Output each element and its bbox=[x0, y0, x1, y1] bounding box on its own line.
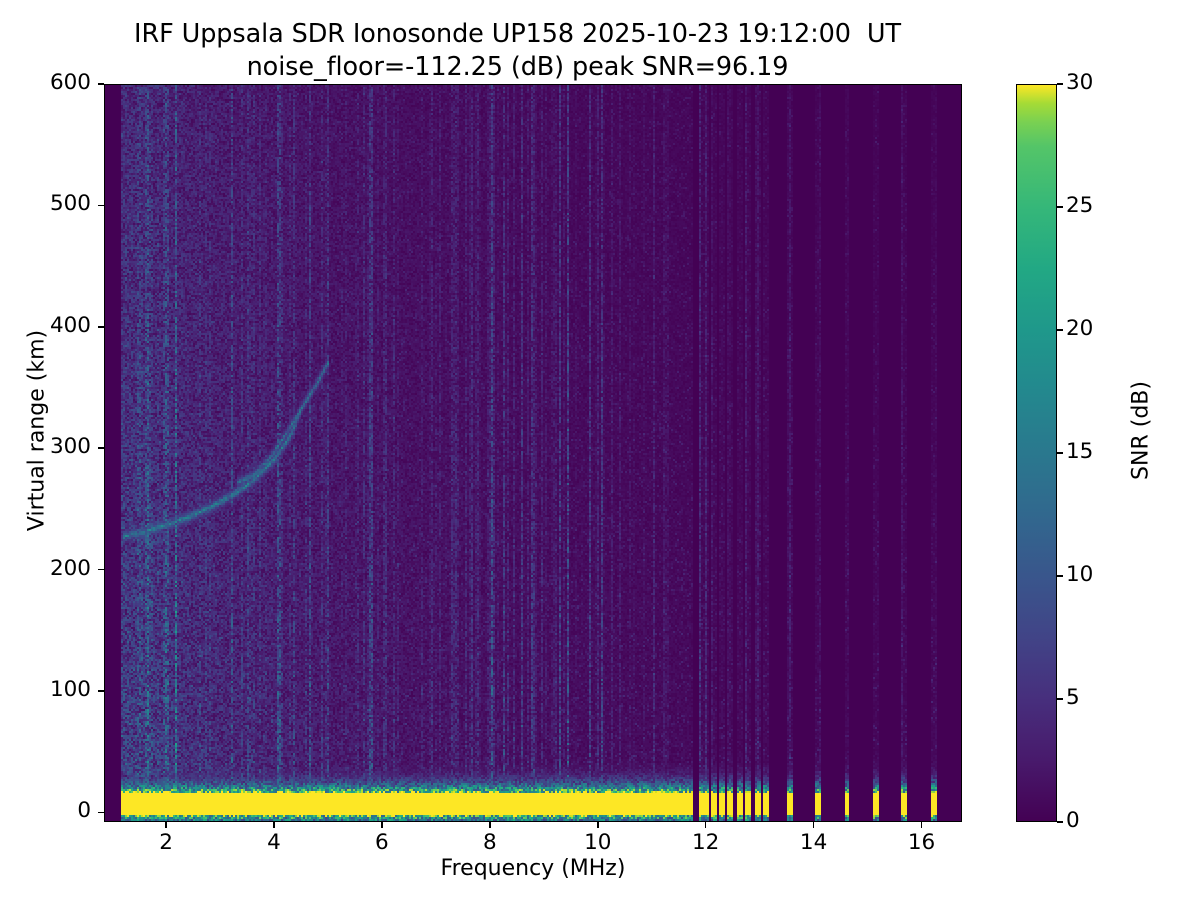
colorbar-tick-mark bbox=[1057, 329, 1063, 331]
colorbar-tick-label: 0 bbox=[1066, 808, 1080, 833]
colorbar-tick-label: 30 bbox=[1066, 70, 1093, 95]
colorbar-tick-label: 25 bbox=[1066, 193, 1093, 218]
colorbar-tick-mark bbox=[1057, 83, 1063, 85]
y-tick-mark bbox=[98, 326, 104, 328]
colorbar-tick-mark bbox=[1057, 698, 1063, 700]
y-tick-mark bbox=[98, 83, 104, 85]
y-tick-label: 400 bbox=[0, 313, 91, 338]
x-axis-label: Frequency (MHz) bbox=[104, 856, 962, 881]
colorbar-tick-mark bbox=[1057, 575, 1063, 577]
x-tick-mark bbox=[813, 822, 815, 828]
y-tick-mark bbox=[98, 205, 104, 207]
x-tick-label: 12 bbox=[692, 830, 719, 855]
y-tick-label: 300 bbox=[0, 434, 91, 459]
colorbar-gradient bbox=[1017, 85, 1056, 821]
colorbar-tick-label: 15 bbox=[1066, 439, 1093, 464]
x-tick-label: 8 bbox=[483, 830, 497, 855]
x-tick-label: 4 bbox=[267, 830, 281, 855]
x-tick-mark bbox=[489, 822, 491, 828]
y-tick-mark bbox=[98, 812, 104, 814]
y-tick-label: 100 bbox=[0, 677, 91, 702]
ionogram-figure: IRF Uppsala SDR Ionosonde UP158 2025-10-… bbox=[0, 0, 1200, 900]
x-tick-label: 6 bbox=[375, 830, 389, 855]
colorbar-tick-mark bbox=[1057, 452, 1063, 454]
y-tick-label: 600 bbox=[0, 70, 91, 95]
title-line-2: noise_floor=-112.25 (dB) peak SNR=96.19 bbox=[0, 51, 1035, 84]
x-tick-label: 2 bbox=[159, 830, 173, 855]
x-tick-mark bbox=[165, 822, 167, 828]
snr-colorbar[interactable] bbox=[1016, 84, 1057, 822]
x-tick-mark bbox=[273, 822, 275, 828]
x-tick-mark bbox=[597, 822, 599, 828]
y-tick-label: 500 bbox=[0, 191, 91, 216]
y-tick-mark bbox=[98, 569, 104, 571]
x-tick-mark bbox=[381, 822, 383, 828]
x-tick-mark bbox=[921, 822, 923, 828]
x-tick-mark bbox=[705, 822, 707, 828]
x-tick-label: 16 bbox=[908, 830, 935, 855]
y-tick-mark bbox=[98, 690, 104, 692]
title-line-1: IRF Uppsala SDR Ionosonde UP158 2025-10-… bbox=[0, 18, 1035, 51]
x-tick-label: 14 bbox=[800, 830, 827, 855]
y-tick-mark bbox=[98, 447, 104, 449]
ionogram-plot-area[interactable] bbox=[104, 84, 962, 822]
ionogram-heatmap bbox=[105, 85, 962, 822]
figure-title: IRF Uppsala SDR Ionosonde UP158 2025-10-… bbox=[0, 18, 1035, 83]
colorbar-tick-label: 10 bbox=[1066, 562, 1093, 587]
colorbar-tick-label: 20 bbox=[1066, 316, 1093, 341]
colorbar-tick-mark bbox=[1057, 206, 1063, 208]
colorbar-tick-mark bbox=[1057, 821, 1063, 823]
y-tick-label: 200 bbox=[0, 556, 91, 581]
x-tick-label: 10 bbox=[584, 830, 611, 855]
y-tick-label: 0 bbox=[0, 798, 91, 823]
colorbar-label: SNR (dB) bbox=[1129, 61, 1154, 801]
colorbar-tick-label: 5 bbox=[1066, 685, 1080, 710]
